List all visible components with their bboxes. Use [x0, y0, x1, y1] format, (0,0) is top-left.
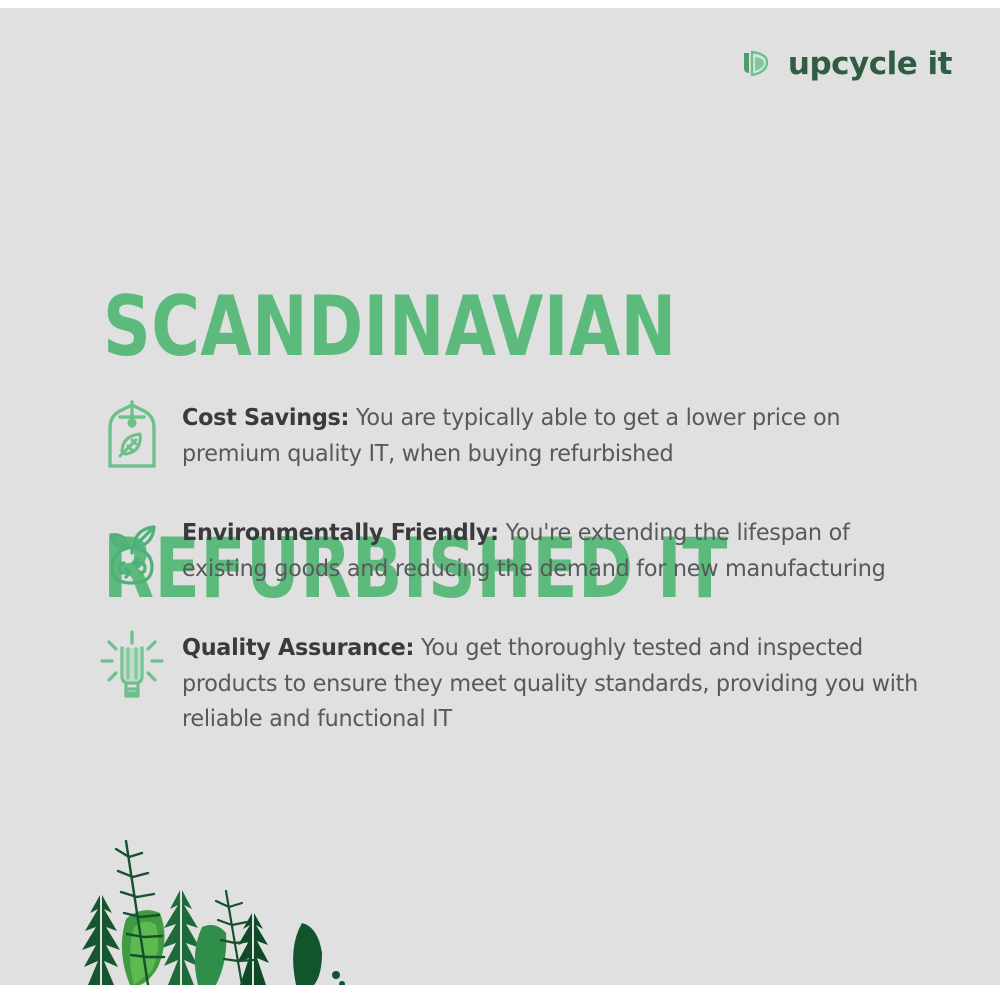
- poster: upcycle it SCANDINAVIAN REFURBISHED IT: [0, 0, 1000, 1000]
- list-item-text: Cost Savings: You are typically able to …: [182, 394, 927, 471]
- brand-logo-text: upcycle it: [788, 49, 952, 80]
- list-item: Environmentally Friendly: You're extendi…: [96, 509, 966, 595]
- poster-canvas: upcycle it SCANDINAVIAN REFURBISHED IT: [0, 8, 1000, 985]
- list-item: Quality Assurance: You get thoroughly te…: [96, 624, 966, 737]
- upcycle-leaf-mark-icon: [738, 46, 774, 82]
- price-tag-leaf-icon: [96, 394, 182, 480]
- tropical-foliage-illustration: [30, 835, 410, 985]
- list-item-title: Environmentally Friendly:: [182, 518, 499, 546]
- page-title-line-1: SCANDINAVIAN: [103, 287, 728, 368]
- lightbulb-idea-icon: [96, 624, 182, 710]
- benefits-list: Cost Savings: You are typically able to …: [96, 394, 966, 766]
- eco-recycle-leaf-icon: [96, 509, 182, 595]
- brand-logo[interactable]: upcycle it: [738, 46, 952, 82]
- list-item-title: Quality Assurance:: [182, 633, 414, 661]
- list-item-text: Environmentally Friendly: You're extendi…: [182, 509, 927, 586]
- list-item: Cost Savings: You are typically able to …: [96, 394, 966, 480]
- list-item-text: Quality Assurance: You get thoroughly te…: [182, 624, 927, 737]
- list-item-title: Cost Savings:: [182, 403, 349, 431]
